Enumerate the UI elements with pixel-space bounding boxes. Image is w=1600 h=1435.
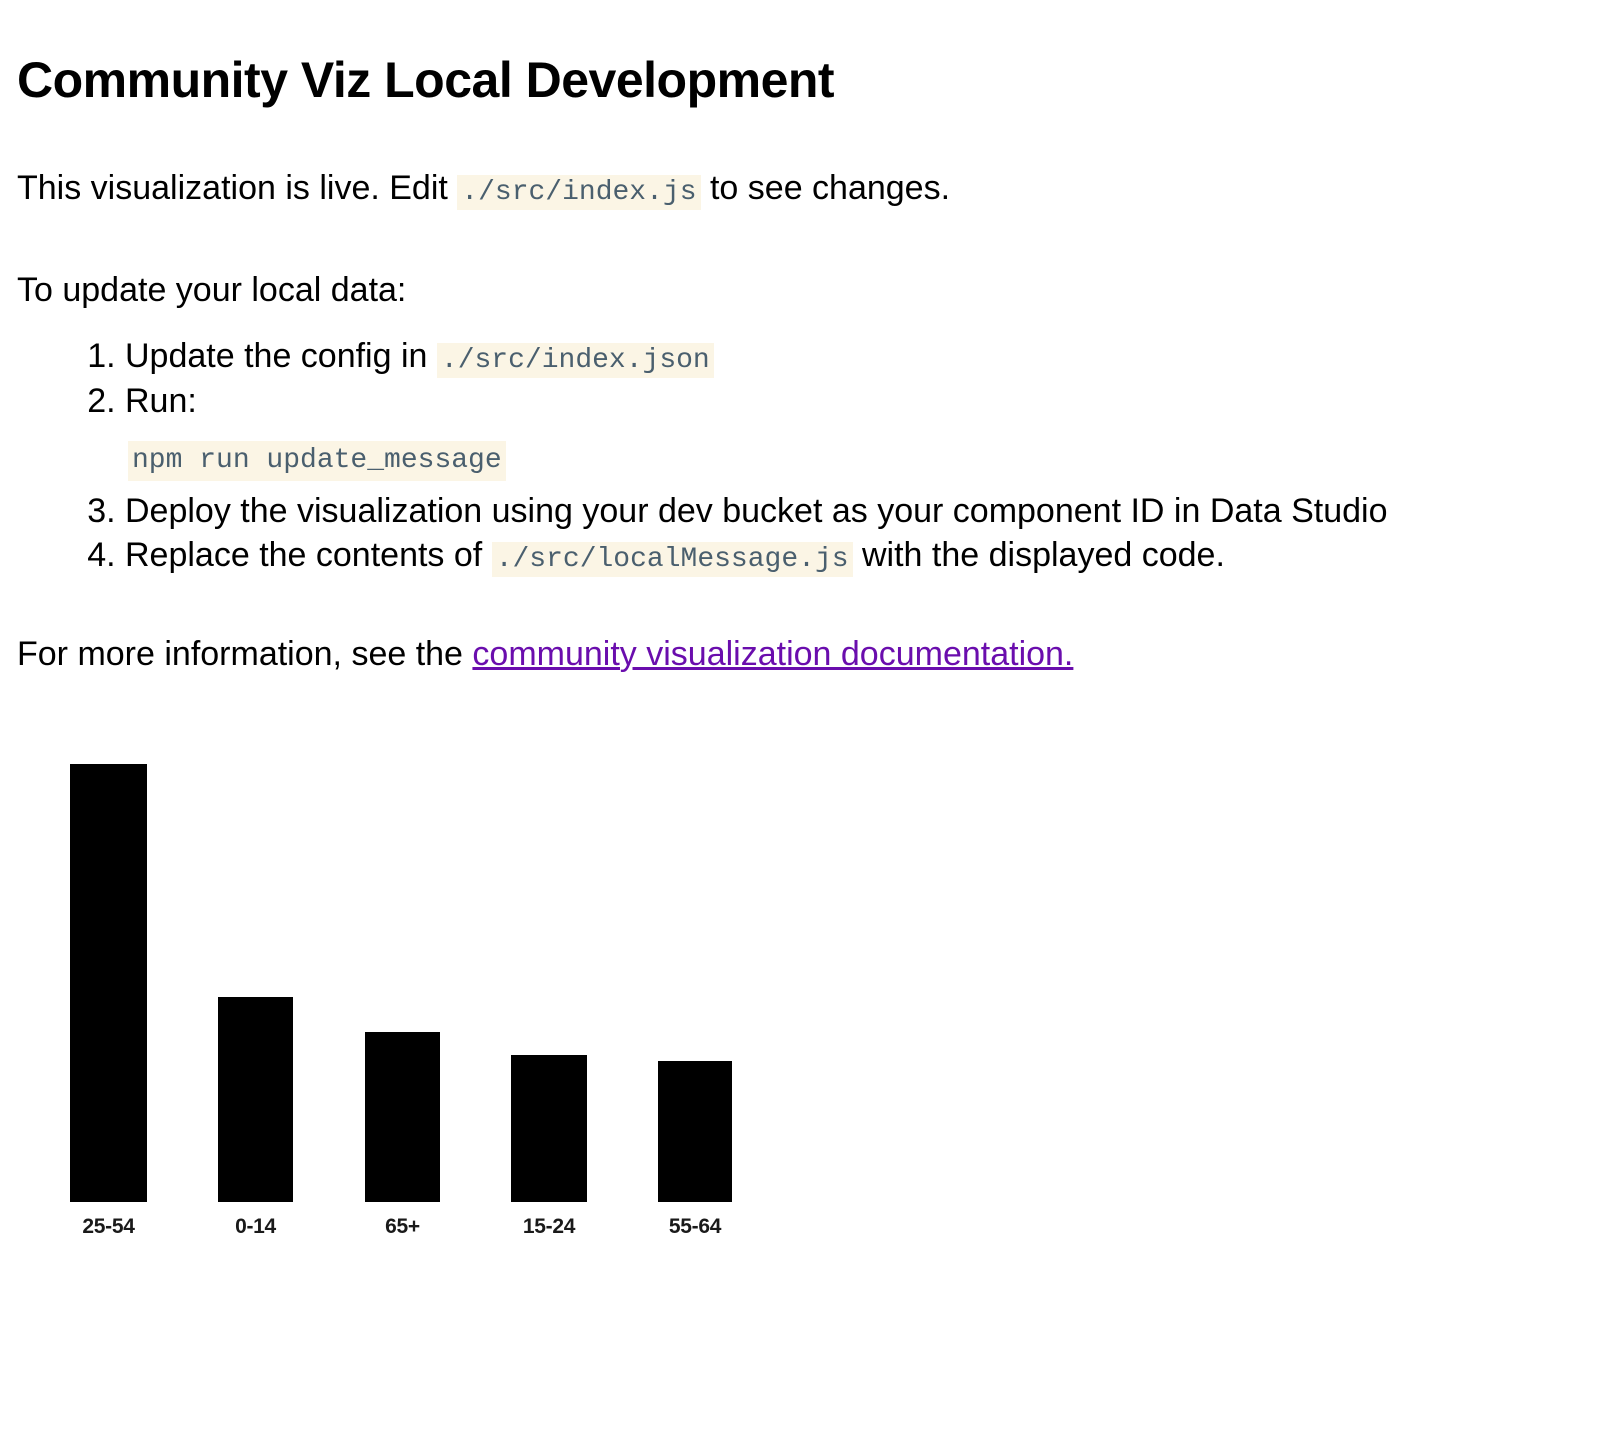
intro-paragraph: This visualization is live. Edit ./src/i… — [17, 166, 1583, 211]
code-npm-run-update-message: npm run update_message — [128, 441, 506, 481]
more-info-text-before: For more information, see the — [17, 635, 472, 673]
intro-text-before: This visualization is live. Edit — [17, 169, 457, 207]
bar-chart-svg: 25-540-1465+15-2455-64 — [53, 712, 813, 1252]
more-info-paragraph: For more information, see the community … — [17, 632, 1583, 676]
page-title: Community Viz Local Development — [17, 0, 1583, 110]
step-4-text: Replace the contents of — [125, 536, 492, 574]
page-root: Community Viz Local Development This vis… — [0, 0, 1600, 1252]
bar-label-55-64: 55-64 — [669, 1215, 722, 1238]
code-local-message-js: ./src/localMessage.js — [492, 542, 853, 577]
bar-chart: 25-540-1465+15-2455-64 — [53, 712, 813, 1252]
bar-label-15-24: 15-24 — [523, 1215, 576, 1238]
bar-0-14[interactable] — [218, 997, 293, 1202]
list-item: Replace the contents of ./src/localMessa… — [125, 533, 1583, 578]
bar-label-25-54: 25-54 — [82, 1215, 135, 1238]
step-2-text: Run: — [125, 382, 197, 420]
code-block-npm-run: npm run update_message — [125, 434, 1583, 481]
step-4-text-after: with the displayed code. — [853, 536, 1225, 574]
bar-label-65+: 65+ — [385, 1215, 420, 1238]
bar-25-54[interactable] — [70, 764, 147, 1202]
step-1-text: Update the config in — [125, 337, 437, 375]
steps-list: Update the config in ./src/index.json Ru… — [17, 334, 1583, 579]
list-item: Run: npm run update_message — [125, 379, 1583, 481]
code-index-js: ./src/index.js — [457, 175, 700, 210]
bar-55-64[interactable] — [658, 1061, 732, 1202]
step-3-text: Deploy the visualization using your dev … — [125, 492, 1387, 530]
code-index-json: ./src/index.json — [437, 343, 714, 378]
bar-label-0-14: 0-14 — [235, 1215, 276, 1238]
update-lead-text: To update your local data: — [17, 268, 1583, 312]
community-visualization-documentation-link[interactable]: community visualization documentation. — [472, 635, 1073, 673]
list-item: Deploy the visualization using your dev … — [125, 489, 1583, 533]
list-item: Update the config in ./src/index.json — [125, 334, 1583, 379]
bar-65+[interactable] — [365, 1032, 440, 1202]
bar-15-24[interactable] — [511, 1055, 587, 1202]
intro-text-after: to see changes. — [701, 169, 951, 207]
